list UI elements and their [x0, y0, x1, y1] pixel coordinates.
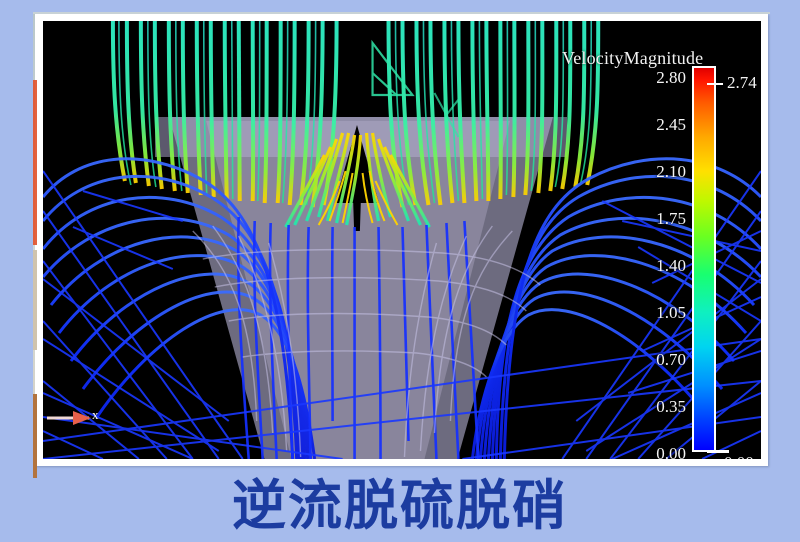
colorbar-tick: 0.70 — [598, 350, 686, 370]
colorbar-data-min-label: 0.00 — [724, 453, 754, 459]
figure-frame: VelocityMagnitude 2.80 2.45 2.10 1.75 1.… — [35, 14, 768, 466]
frame-edge-sliver-red — [33, 80, 37, 245]
colorbar-tick-labels: 2.80 2.45 2.10 1.75 1.40 1.05 0.70 0.35 … — [598, 66, 686, 456]
frame-edge-sliver-brown — [33, 394, 37, 478]
slide-canvas: VelocityMagnitude 2.80 2.45 2.10 1.75 1.… — [0, 0, 800, 542]
slide-caption: 逆流脱硫脱硝 — [0, 476, 800, 536]
axis-triad: x — [45, 405, 115, 431]
triangle-marker — [373, 43, 413, 95]
colorbar-tick: 2.80 — [598, 68, 686, 88]
axis-x-label: x — [92, 407, 99, 423]
colorbar-tick: 2.45 — [598, 115, 686, 135]
colorbar-max-tick — [707, 83, 723, 85]
colorbar-gradient[interactable] — [692, 66, 716, 452]
render-canvas[interactable]: VelocityMagnitude 2.80 2.45 2.10 1.75 1.… — [43, 21, 761, 459]
colorbar-tick: 1.05 — [598, 303, 686, 323]
colorbar-tick: 0.00 — [598, 444, 686, 459]
colorbar-tick: 0.35 — [598, 397, 686, 417]
colorbar-tick: 1.40 — [598, 256, 686, 276]
colorbar-data-max-label: 2.74 — [727, 73, 757, 93]
colorbar-tick: 1.75 — [598, 209, 686, 229]
x-axis-arrow-icon — [45, 405, 115, 431]
frame-edge-sliver-tan — [33, 250, 37, 350]
colorbar-tick: 2.10 — [598, 162, 686, 182]
